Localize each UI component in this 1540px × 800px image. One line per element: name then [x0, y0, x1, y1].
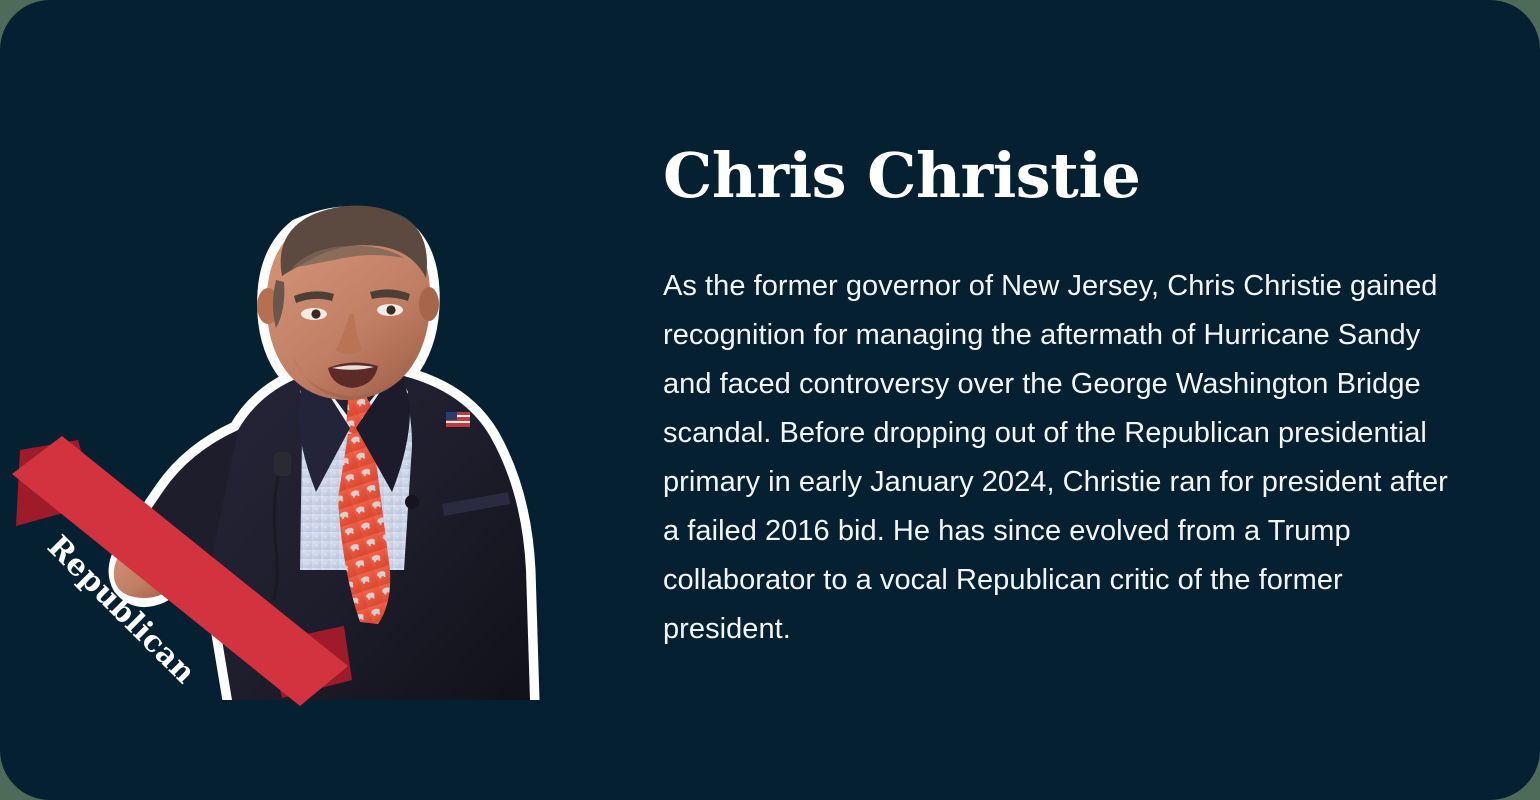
flag-pin-icon [446, 412, 470, 427]
party-ribbon[interactable]: Republican [0, 430, 360, 720]
candidate-bio: As the former governor of New Jersey, Ch… [663, 262, 1463, 654]
text-column: Chris Christie As the former governor of… [663, 0, 1473, 800]
suit-button [405, 495, 419, 509]
candidate-name: Chris Christie [663, 140, 1140, 212]
ribbon-graphic: Republican [0, 430, 360, 720]
ear-right [419, 287, 439, 321]
candidate-profile-card: Republican Chris Christie As the former … [0, 0, 1540, 800]
portrait-column: Republican [0, 0, 640, 800]
